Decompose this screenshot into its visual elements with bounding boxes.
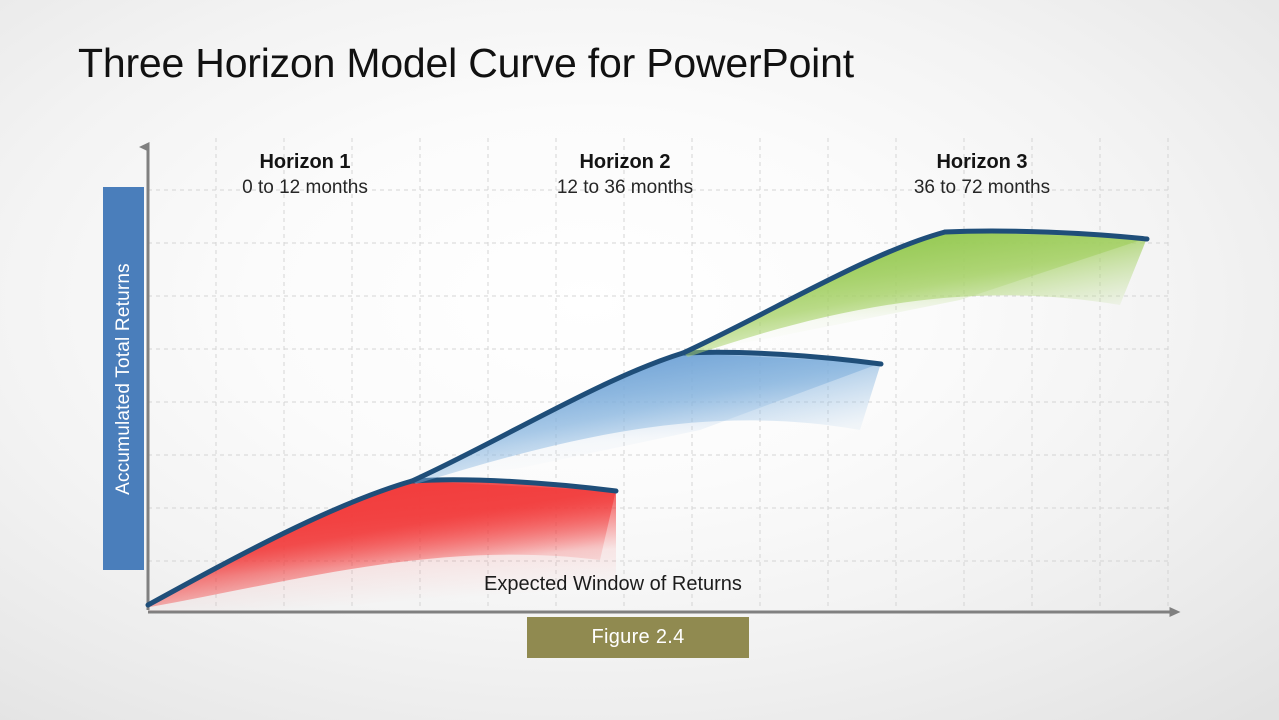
y-axis-label: Accumulated Total Returns [113,263,135,495]
horizon-3-title: Horizon 3 [858,150,1106,175]
horizon-1-header: Horizon 1 0 to 12 months [185,150,425,201]
horizon-2-range: 12 to 36 months [505,175,745,201]
slide-canvas: Three Horizon Model Curve for PowerPoint [0,0,1279,720]
horizon-2-title: Horizon 2 [505,150,745,175]
figure-caption-label: Figure 2.4 [591,626,684,649]
series-horizon-3 [683,231,1147,357]
horizon-1-range: 0 to 12 months [185,175,425,201]
horizon-1-title: Horizon 1 [185,150,425,175]
chart-plot-svg [0,0,1279,720]
y-axis-label-bar: Accumulated Total Returns [103,187,144,570]
horizon-2-header: Horizon 2 12 to 36 months [505,150,745,201]
x-axis-label: Expected Window of Returns [484,573,742,596]
three-horizon-chart: Accumulated Total Returns Horizon 1 0 to… [0,0,1279,720]
horizon-3-range: 36 to 72 months [858,175,1106,201]
horizon-3-header: Horizon 3 36 to 72 months [858,150,1106,201]
figure-caption-badge: Figure 2.4 [527,617,749,658]
series-horizon-2 [412,352,881,484]
horizon-2-fill-band [412,353,881,484]
